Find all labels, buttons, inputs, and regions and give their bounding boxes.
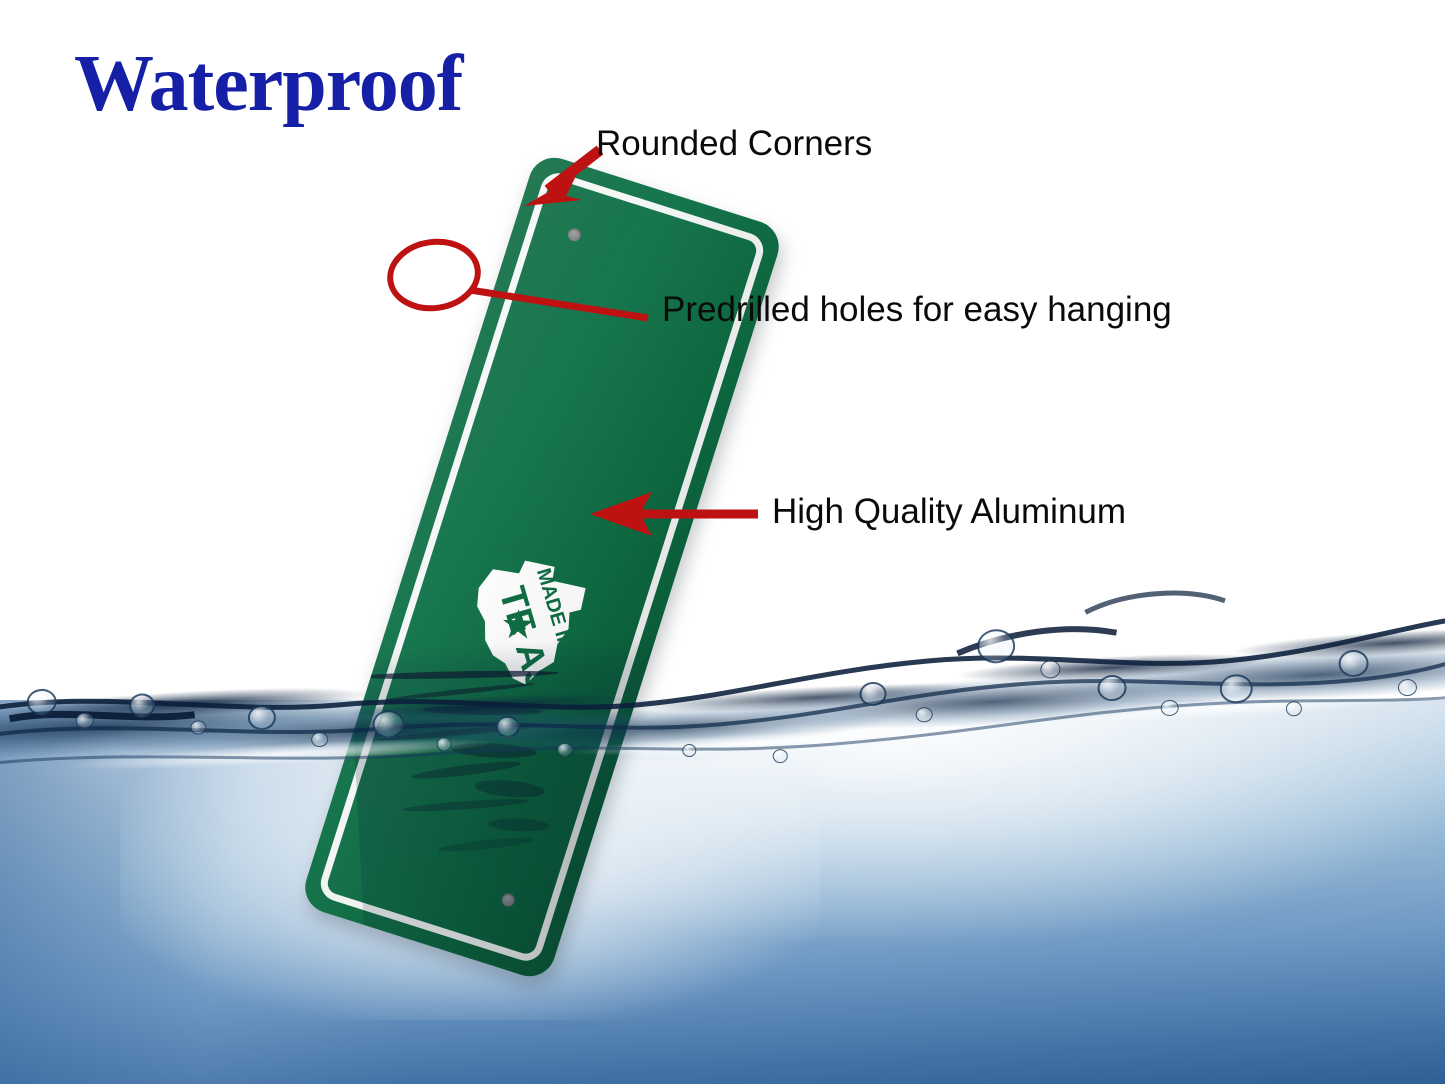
page-title: Waterproof <box>74 44 462 124</box>
callout-label-predrilled-holes: Predrilled holes for easy hanging <box>662 290 1172 330</box>
callout-label-high-quality-aluminum: High Quality Aluminum <box>772 492 1126 532</box>
callout-label-rounded-corners: Rounded Corners <box>596 124 872 164</box>
product-feature-graphic: MADE IN TE ★ AS <box>0 0 1445 1084</box>
